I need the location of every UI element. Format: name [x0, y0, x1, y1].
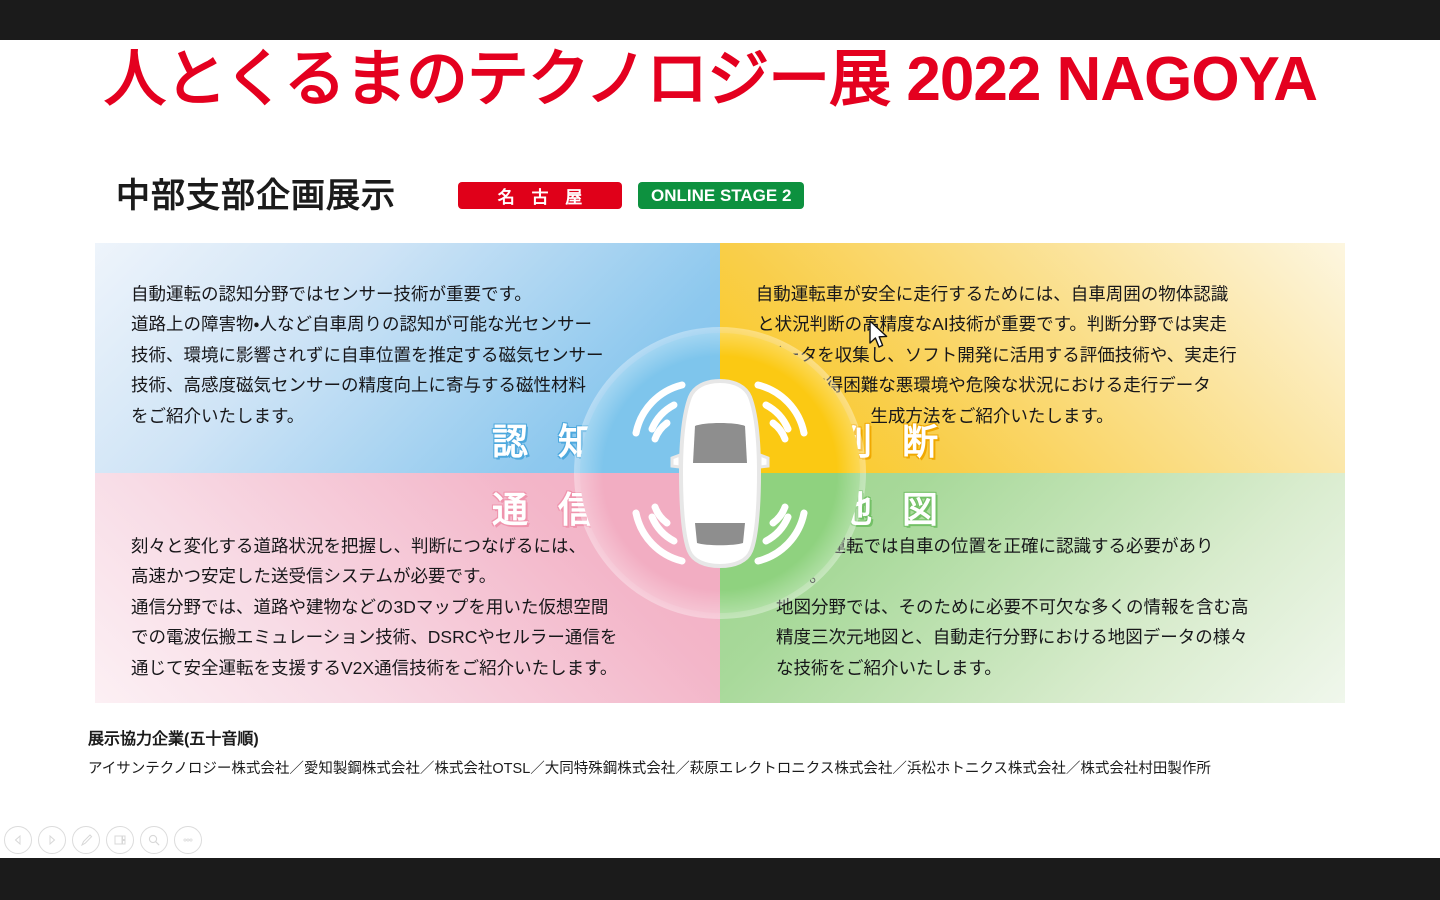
presentation-viewer: 人とくるまのテクノロジー展 2022 NAGOYA 中部支部企画展示 名 古 屋… — [0, 0, 1440, 900]
next-slide-button[interactable] — [38, 826, 66, 854]
ellipsis-icon — [180, 832, 196, 848]
mouse-pointer-icon — [869, 320, 891, 350]
presentation-toolbar — [4, 826, 202, 854]
quadrant-ninchi: 自動運転の認知分野ではセンサー技術が重要です。道路上の障害物・人など自車周りの認… — [95, 243, 720, 473]
pen-icon — [79, 833, 94, 848]
slide-canvas: 人とくるまのテクノロジー展 2022 NAGOYA 中部支部企画展示 名 古 屋… — [0, 40, 1440, 858]
subheader-row: 中部支部企画展示 名 古 屋 ONLINE STAGE 2 — [116, 168, 804, 217]
slide-title: 人とくるまのテクノロジー展 2022 NAGOYA — [104, 47, 1317, 112]
triangle-left-icon — [12, 834, 24, 846]
quadrant-tsushin: 刻々と変化する道路状況を把握し、判断につなげるには、高速かつ安定した送受信システ… — [95, 473, 720, 703]
letterbox-top — [0, 0, 1440, 40]
badge-location: 名 古 屋 — [458, 182, 622, 209]
quadrant-chizu-label: 地 図 — [836, 481, 948, 533]
credits-company-list: アイサンテクノロジー株式会社／愛知製鋼株式会社／株式会社OTSL／大同特殊鋼株式… — [88, 757, 1211, 778]
grid-slides-icon — [113, 833, 127, 847]
quadrant-handan-label: 判 断 — [836, 413, 948, 465]
slide-overview-button[interactable] — [106, 826, 134, 854]
credits-heading: 展示協力企業(五十音順) — [88, 725, 259, 749]
triangle-right-icon — [46, 834, 58, 846]
quadrant-panel: 自動運転の認知分野ではセンサー技術が重要です。道路上の障害物・人など自車周りの認… — [95, 243, 1345, 703]
section-title: 中部支部企画展示 — [116, 168, 396, 217]
quadrant-ninchi-label: 認 知 — [492, 413, 604, 465]
previous-slide-button[interactable] — [4, 826, 32, 854]
badge-online-stage: ONLINE STAGE 2 — [638, 182, 804, 209]
quadrant-tsushin-label: 通 信 — [492, 481, 604, 533]
quadrant-handan-text: 自動運転車が安全に走行するためには、自車周囲の物体認識と状況判断の高精度なAI技… — [742, 279, 1242, 431]
more-options-button[interactable] — [174, 826, 202, 854]
quadrant-handan: 自動運転車が安全に走行するためには、自車周囲の物体認識と状況判断の高精度なAI技… — [720, 243, 1345, 473]
quadrant-ninchi-text: 自動運転の認知分野ではセンサー技術が重要です。道路上の障害物・人など自車周りの認… — [131, 279, 604, 431]
quadrant-chizu: 自動運転では自車の位置を正確に認識する必要があります。地図分野では、そのために必… — [720, 473, 1345, 703]
magnifier-icon — [147, 833, 161, 847]
zoom-button[interactable] — [140, 826, 168, 854]
annotate-pen-button[interactable] — [72, 826, 100, 854]
badge-group: 名 古 屋 ONLINE STAGE 2 — [458, 176, 804, 209]
letterbox-bottom — [0, 858, 1440, 900]
quadrant-tsushin-text: 刻々と変化する道路状況を把握し、判断につなげるには、高速かつ安定した送受信システ… — [131, 531, 617, 683]
quadrant-chizu-text: 自動運転では自車の位置を正確に認識する必要があります。地図分野では、そのために必… — [776, 531, 1249, 683]
